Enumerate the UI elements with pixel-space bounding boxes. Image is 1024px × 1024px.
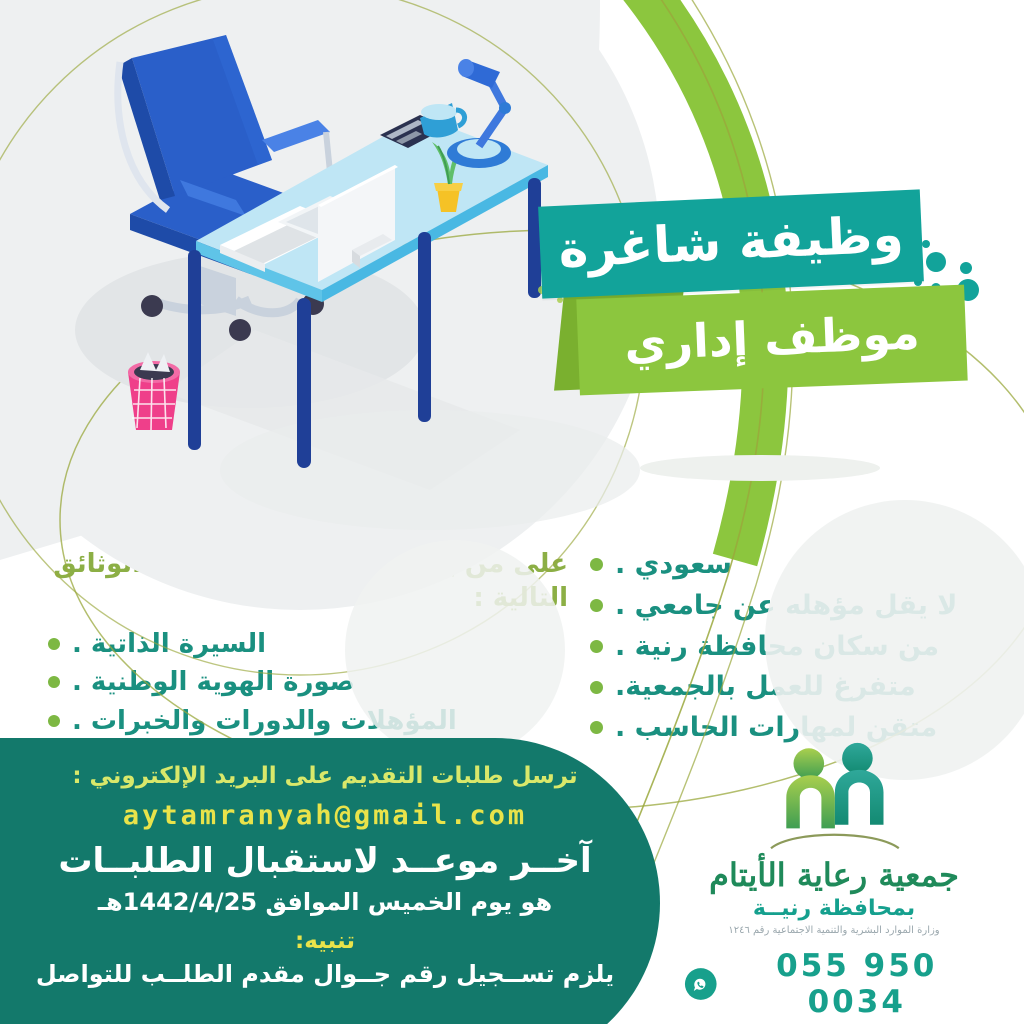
requirements-backdrop-circle: [765, 500, 1024, 780]
mug-rim: [421, 104, 457, 120]
notice-label: تنبيه:: [30, 928, 620, 954]
logo-arc: [771, 835, 899, 849]
secondary-title-text: موظف إداري: [624, 309, 921, 370]
ministry-registration: وزارة الموارد البشرية والتنمية الاجتماعي…: [684, 925, 984, 936]
plant-pot-rim: [434, 183, 463, 191]
deadline-date: هو يوم الخميس الموافق 1442/4/25هـ: [30, 888, 620, 916]
deadline-label: آخــر موعــد لاستقبال الطلبــات: [30, 841, 620, 882]
logo-figure-left-head: [794, 748, 825, 779]
documents-backdrop-circle: [345, 540, 565, 760]
phone-row[interactable]: 055 950 0034: [684, 948, 984, 1020]
organization-name: جمعية رعاية الأيتام: [684, 856, 984, 894]
desk-shadow-soft: [220, 410, 640, 530]
email-address[interactable]: aytamranyah@gmail.com: [30, 800, 620, 831]
primary-title-text: وظيفة شاغرة: [557, 209, 904, 279]
organization-branch: بمحافظة رنيــة: [684, 896, 984, 921]
organization-logo-block: جمعية رعاية الأيتام بمحافظة رنيــة وزارة…: [684, 742, 984, 1020]
desk-leg-1: [188, 250, 201, 450]
whatsapp-icon[interactable]: [684, 966, 718, 1002]
armrest-post-right: [326, 132, 330, 172]
charity-logo-icon: [744, 742, 924, 850]
lamp-joint: [499, 102, 511, 114]
logo-figure-left-body: [786, 775, 835, 828]
logo-figure-right-head: [842, 743, 873, 774]
primary-title-banner: وظيفة شاغرة: [538, 189, 924, 298]
lamp-shade-end: [458, 59, 474, 77]
secondary-title-banner: موظف إداري: [576, 285, 967, 396]
desk-leg-3: [418, 232, 431, 422]
submission-instruction: ترسل طلبات التقديم على البريد الإلكتروني…: [30, 762, 620, 792]
desk-leg-2: [297, 298, 311, 468]
job-vacancy-poster: وظيفة شاغرة موظف إداري سعودي . لا يقل مؤ…: [0, 0, 1024, 1024]
soft-shadow-ellipse: [640, 455, 880, 481]
logo-figure-right-body: [835, 770, 884, 825]
chair-wheel-1: [141, 295, 163, 317]
contact-panel-content: ترسل طلبات التقديم على البريد الإلكتروني…: [0, 748, 620, 1024]
chair-wheel-2: [229, 319, 251, 341]
plant-pot: [437, 188, 460, 212]
notice-text: يلزم تســجيل رقم جــوال مقدم الطلــب للت…: [30, 960, 620, 988]
phone-number[interactable]: 055 950 0034: [730, 948, 984, 1020]
